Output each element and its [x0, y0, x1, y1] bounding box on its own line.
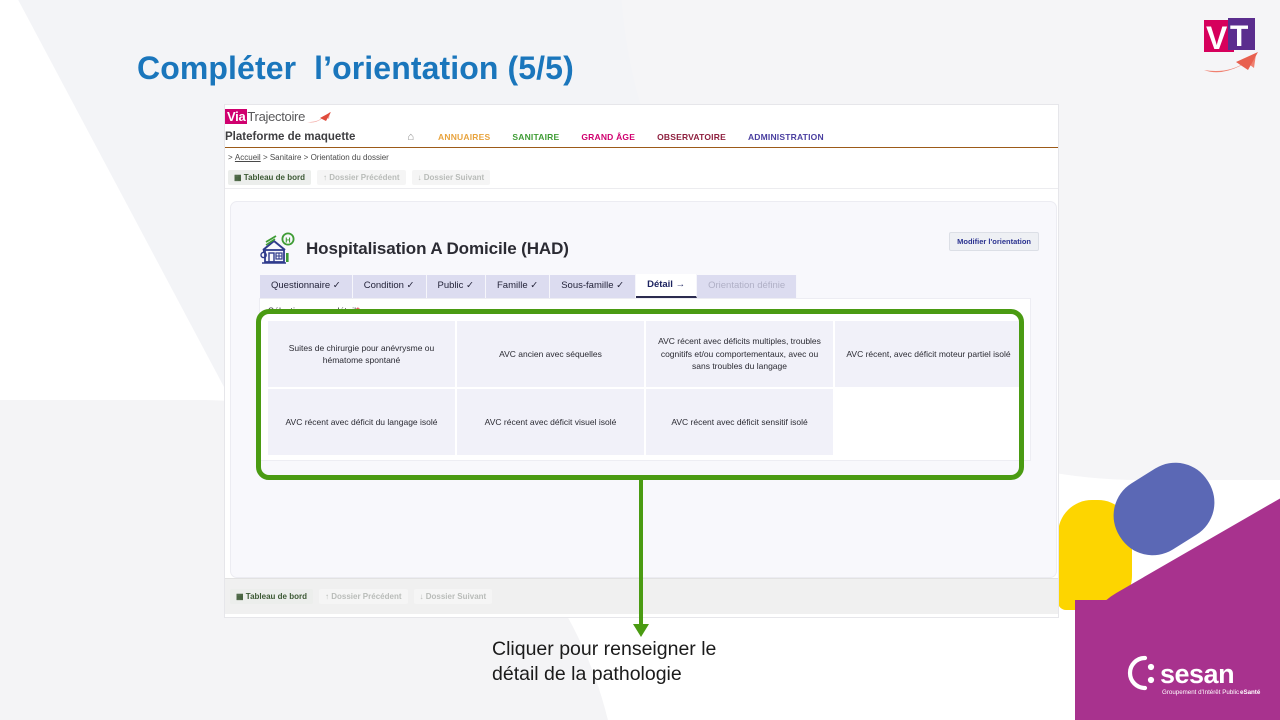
app-navigation: Plateforme de maquette ⌂ ANNUAIRES SANIT…	[225, 126, 1058, 148]
arrow-up-icon: ↑	[325, 592, 329, 601]
breadcrumb-sep-2: >	[304, 153, 309, 162]
detail-label-text: Sélectionnez un détail	[268, 306, 356, 316]
arrow-up-icon: ↑	[323, 173, 327, 182]
previous-file-label-bottom: Dossier Précédent	[331, 592, 401, 601]
svg-text:eSanté: eSanté	[1240, 689, 1261, 696]
detail-option[interactable]: Suites de chirurgie pour anévrysme ou hé…	[268, 321, 455, 387]
viatrajectoire-vt-logo: V T	[1196, 12, 1268, 78]
breadcrumb-item-orientation: Orientation du dossier	[311, 153, 389, 162]
detail-option[interactable]: AVC récent avec déficits multiples, trou…	[646, 321, 833, 387]
top-toolbar: ▦ Tableau de bord ↑ Dossier Précédent ↓ …	[225, 167, 1058, 189]
card-title: Hospitalisation A Domicile (HAD)	[306, 239, 569, 259]
previous-file-button-bottom: ↑ Dossier Précédent	[319, 589, 408, 604]
tab-public[interactable]: Public ✓	[427, 275, 486, 298]
detail-option-empty	[835, 389, 1022, 455]
nav-underline	[225, 147, 1058, 148]
orientation-card: H Hospitalisation A Domicile (HAD) Modif…	[230, 201, 1057, 578]
next-file-button-bottom: ↓ Dossier Suivant	[414, 589, 493, 604]
brand-trajectoire: Trajectoire	[247, 109, 305, 124]
svg-text:T: T	[1230, 20, 1248, 53]
app-header: Via Trajectoire Plateforme de maquette ⌂…	[225, 105, 1058, 148]
next-file-label: Dossier Suivant	[424, 173, 484, 182]
arrow-down-icon: ↓	[420, 592, 424, 601]
tab-sous-famille[interactable]: Sous-famille ✓	[550, 275, 636, 298]
grid-icon: ▦	[234, 173, 242, 182]
nav-item-sanitaire[interactable]: SANITAIRE	[512, 132, 559, 142]
annotation-caption: Cliquer pour renseigner le détail de la …	[492, 637, 716, 687]
nav-item-observatoire[interactable]: OBSERVATOIRE	[657, 132, 726, 142]
svg-text:Groupement d’Intérêt Public: Groupement d’Intérêt Public	[1162, 689, 1239, 696]
slide-title: Compléter l’orientation (5/5)	[137, 50, 574, 87]
detail-option[interactable]: AVC récent avec déficit du langage isolé	[268, 389, 455, 455]
svg-text:V: V	[1206, 20, 1228, 56]
previous-file-button-top: ↑ Dossier Précédent	[317, 170, 406, 185]
breadcrumb-item-accueil[interactable]: Accueil	[235, 153, 261, 162]
breadcrumb: > Accueil > Sanitaire > Orientation du d…	[225, 148, 1058, 167]
detail-option[interactable]: AVC ancien avec séquelles	[457, 321, 644, 387]
tab-famille[interactable]: Famille ✓	[486, 275, 550, 298]
sesan-logo: sesan Groupement d’Intérêt Public eSanté	[1122, 650, 1270, 700]
dashboard-button-top[interactable]: ▦ Tableau de bord	[228, 170, 311, 185]
slide-canvas: V T sesan Groupement d’Intérêt Public eS…	[0, 0, 1280, 720]
nav-item-grand-age[interactable]: GRAND ÂGE	[581, 132, 635, 142]
previous-file-label: Dossier Précédent	[329, 173, 399, 182]
home-hospital-icon: H	[260, 232, 296, 266]
tab-condition[interactable]: Condition ✓	[353, 275, 427, 298]
tab-orientation-definie: Orientation définie	[697, 275, 797, 298]
svg-text:sesan: sesan	[1160, 659, 1234, 689]
nav-item-annuaires[interactable]: ANNUAIRES	[438, 132, 490, 142]
dashboard-button-bottom[interactable]: ▦ Tableau de bord	[230, 589, 313, 604]
brand-via: Via	[225, 109, 247, 124]
detail-option[interactable]: AVC récent avec déficit visuel isolé	[457, 389, 644, 455]
viatrajectoire-wordmark: Via Trajectoire	[225, 107, 332, 126]
dashboard-button-label: Tableau de bord	[244, 173, 305, 182]
orientation-tabs: Questionnaire ✓ Condition ✓ Public ✓ Fam…	[260, 274, 1056, 298]
detail-option[interactable]: AVC récent avec déficit sensitif isolé	[646, 389, 833, 455]
annotation-arrow-line	[639, 477, 643, 629]
breadcrumb-sep-1: >	[263, 153, 268, 162]
detail-selector-label: Sélectionnez un détail*	[268, 306, 1022, 316]
grid-icon: ▦	[236, 592, 244, 601]
arrow-down-icon: ↓	[418, 173, 422, 182]
nav-item-administration[interactable]: ADMINISTRATION	[748, 132, 824, 142]
modify-orientation-button[interactable]: Modifier l'orientation	[949, 232, 1039, 251]
nav-links: ANNUAIRES SANITAIRE GRAND ÂGE OBSERVATOI…	[438, 132, 824, 142]
next-file-button-top: ↓ Dossier Suivant	[412, 170, 491, 185]
detail-options-grid: Suites de chirurgie pour anévrysme ou hé…	[268, 321, 1022, 455]
breadcrumb-item-sanitaire[interactable]: Sanitaire	[270, 153, 302, 162]
breadcrumb-prefix: >	[228, 153, 233, 162]
svg-text:H: H	[285, 235, 290, 244]
detail-option[interactable]: AVC récent, avec déficit moteur partiel …	[835, 321, 1022, 387]
home-icon[interactable]: ⌂	[407, 131, 414, 143]
platform-label: Plateforme de maquette	[225, 131, 355, 143]
brand-arrow-icon	[306, 111, 332, 124]
annotation-arrow-head	[633, 624, 649, 637]
next-file-label-bottom: Dossier Suivant	[426, 592, 486, 601]
tab-detail[interactable]: Détail →	[636, 274, 697, 298]
detail-selector-panel: Sélectionnez un détail* Suites de chirur…	[259, 298, 1031, 461]
dashboard-button-label-bottom: Tableau de bord	[246, 592, 307, 601]
card-header: H Hospitalisation A Domicile (HAD) Modif…	[231, 202, 1056, 274]
required-marker: *	[356, 306, 360, 316]
tab-questionnaire[interactable]: Questionnaire ✓	[260, 275, 353, 298]
